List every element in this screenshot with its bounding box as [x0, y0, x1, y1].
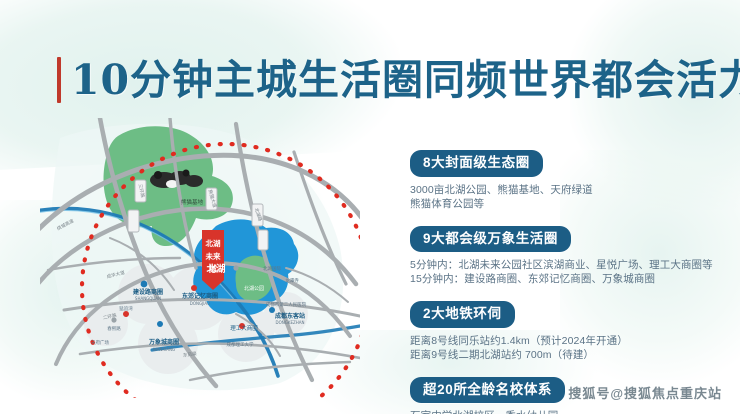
svg-text:SHANGQUAN: SHANGQUAN: [135, 296, 161, 301]
lines-metro: 距离8号线同乐站约1.4km（预计2024年开通） 距离9号线二期北湖站约 70…: [410, 334, 720, 362]
badge-commerce: 9大都会级万象生活圈: [410, 226, 571, 253]
svg-text:DONGKEZHAN: DONGKEZHAN: [276, 320, 305, 325]
svg-text:万象城商圈: 万象城商圈: [148, 338, 179, 346]
line: 15分钟内：建设路商圈、东郊记忆商圈、万象城商圈: [410, 272, 720, 286]
svg-text:熊猫基地: 熊猫基地: [181, 198, 204, 206]
map-label-lake: 北湖: [206, 263, 226, 275]
svg-text:春熙路: 春熙路: [107, 325, 121, 332]
info-block-ecology: 8大封面级生态圈 3000亩北湖公园、熊猫基地、天府绿道 熊猫体育公园等: [410, 150, 720, 211]
svg-text:东郊记忆商圈: 东郊记忆商圈: [182, 292, 218, 300]
svg-text:建设路商圈: 建设路商圈: [133, 288, 163, 296]
line: 距离8号线同乐站约1.4km（预计2024年开通）: [410, 334, 720, 348]
svg-text:北湖: 北湖: [206, 238, 221, 248]
badge-schools: 超20所全龄名校体系: [410, 377, 565, 404]
title-text: 10分钟主城生活圈同频世界都会活力: [71, 56, 740, 104]
lines-commerce: 5分钟内：北湖未来公园社区滨湖商业、星悦广场、理工大商圈等 15分钟内：建设路商…: [410, 258, 720, 286]
svg-text:成都市第二人民医院: 成都市第二人民医院: [266, 301, 307, 308]
svg-text:龙潭寺: 龙潭寺: [285, 277, 299, 284]
lines-ecology: 3000亩北湖公园、熊猫基地、天府绿道 熊猫体育公园等: [410, 183, 720, 211]
lines-schools: 石室中学北湖校区、秀水幼儿园、 电子科大附属小学、成华嘉祥外国语、成都市实验中学…: [410, 409, 720, 414]
svg-text:天府广场: 天府广场: [91, 339, 109, 346]
badge-metro: 2大地铁环伺: [410, 301, 515, 328]
location-map: 北湖 未来 城 北湖 熊猫基地: [40, 118, 360, 398]
info-block-commerce: 9大都会级万象生活圈 5分钟内：北湖未来公园社区滨湖商业、星悦广场、理工大商圈等…: [410, 226, 720, 287]
info-panel: 8大封面级生态圈 3000亩北湖公园、熊猫基地、天府绿道 熊猫体育公园等 9大都…: [410, 150, 720, 414]
poster-canvas: 10分钟主城生活圈同频世界都会活力: [0, 0, 740, 414]
svg-text:北湖国际: 北湖国际: [263, 265, 281, 272]
svg-text:成都东客站: 成都东客站: [275, 312, 305, 320]
svg-text:DONGJIAO: DONGJIAO: [190, 301, 211, 306]
line: 5分钟内：北湖未来公园社区滨湖商业、星悦广场、理工大商圈等: [410, 258, 720, 272]
svg-text:理工大商圈: 理工大商圈: [230, 324, 258, 332]
project-marker[interactable]: 北湖 未来 城: [202, 230, 224, 290]
svg-text:WANXIANG: WANXIANG: [153, 347, 175, 352]
watermark: 搜狐号@搜狐焦点重庆站: [568, 383, 722, 402]
line: 3000亩北湖公园、熊猫基地、天府绿道: [410, 183, 720, 197]
svg-text:猛追湾: 猛追湾: [119, 305, 133, 312]
svg-text:北湖公园: 北湖公园: [244, 285, 264, 292]
line: 熊猫体育公园等: [410, 197, 720, 211]
svg-text:未来: 未来: [206, 251, 221, 261]
svg-text:成都理工大学: 成都理工大学: [227, 341, 254, 348]
title-accent-bar: [57, 57, 61, 103]
badge-ecology: 8大封面级生态圈: [410, 150, 543, 177]
info-block-metro: 2大地铁环伺 距离8号线同乐站约1.4km（预计2024年开通） 距离9号线二期…: [410, 301, 720, 362]
line: 距离9号线二期北湖站约 700m（待建）: [410, 348, 720, 362]
page-title: 10分钟主城生活圈同频世界都会活力: [57, 52, 740, 108]
line: 石室中学北湖校区、秀水幼儿园、: [410, 409, 720, 414]
